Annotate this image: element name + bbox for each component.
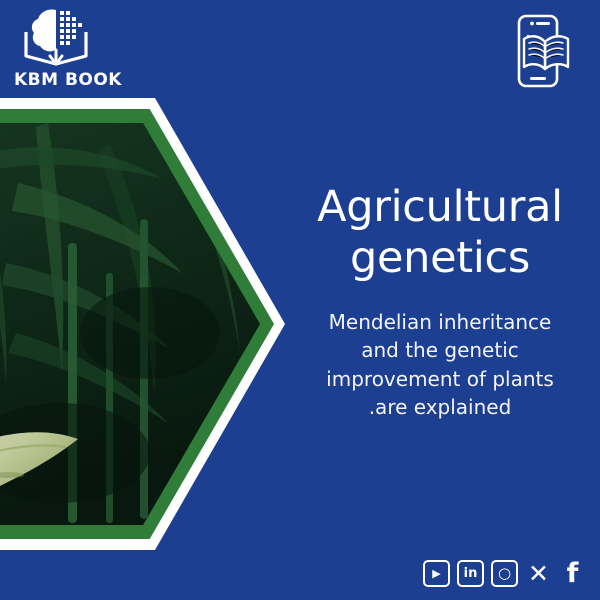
hero-hexagon [0, 98, 285, 550]
x-twitter-glyph: ✕ [528, 561, 549, 586]
subtitle-line-4: .are explained [292, 393, 588, 421]
linkedin-icon[interactable]: in [457, 560, 484, 587]
brand-logo[interactable]: KBM BOOK [8, 6, 138, 98]
subtitle-line-3: improvement of plants [292, 365, 588, 393]
facebook-icon[interactable]: f [559, 560, 586, 587]
subtitle-line-2: and the genetic [292, 336, 588, 364]
subtitle-block: Mendelian inheritance and the genetic im… [292, 308, 588, 422]
brand-name-label: KBM BOOK [8, 70, 128, 90]
poster-canvas: KBM BOOK [0, 0, 600, 600]
title-line-2: genetics [292, 233, 588, 284]
subtitle-line-1: Mendelian inheritance [292, 308, 588, 336]
youtube-icon[interactable]: ▶ [423, 560, 450, 587]
instagram-glyph: ○ [498, 566, 511, 581]
hero-photo [0, 123, 260, 525]
youtube-glyph: ▶ [432, 568, 440, 579]
social-links-bar: ▶ in ○ ✕ f [423, 558, 586, 588]
smartphone-open-book-icon[interactable] [506, 12, 584, 90]
page-title: Agricultural genetics [292, 182, 588, 283]
title-line-1: Agricultural [292, 182, 588, 233]
facebook-glyph: f [567, 560, 579, 587]
linkedin-glyph: in [464, 567, 478, 580]
brain-book-logo-icon [22, 6, 94, 68]
x-twitter-icon[interactable]: ✕ [525, 560, 552, 587]
instagram-icon[interactable]: ○ [491, 560, 518, 587]
